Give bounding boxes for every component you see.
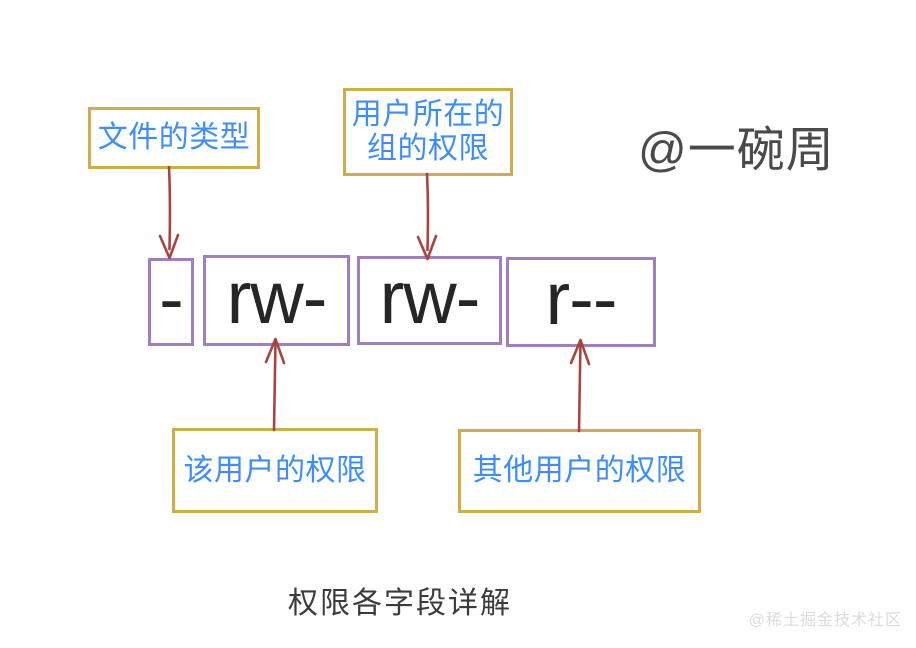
arrow-user-permission	[252, 336, 312, 432]
label-box-user-permission: 该用户的权限	[172, 428, 378, 513]
permission-segment-file-type: -	[148, 258, 194, 346]
label-line: 用户所在的	[352, 98, 505, 132]
arrow-group-permission	[400, 172, 460, 267]
figure-caption: 权限各字段详解	[0, 578, 800, 622]
diagram-canvas: 文件的类型 用户所在的 组的权限 该用户的权限 其他用户的权限 - rw- rw…	[0, 0, 916, 648]
arrow-file-type	[145, 165, 205, 265]
label-line: 其他用户的权限	[473, 454, 687, 488]
label-box-other-permission: 其他用户的权限	[458, 429, 701, 513]
permission-segment-group: rw-	[357, 256, 502, 345]
arrow-other-permission	[557, 337, 617, 433]
label-box-file-type: 文件的类型	[88, 107, 260, 169]
permission-segment-other: r--	[506, 257, 656, 347]
author-watermark: @一碗周	[638, 110, 835, 180]
label-line: 该用户的权限	[184, 454, 367, 488]
label-line: 组的权限	[367, 132, 489, 166]
label-line: 文件的类型	[98, 121, 251, 155]
label-box-group-permission: 用户所在的 组的权限	[343, 88, 513, 176]
site-watermark: @稀土掘金技术社区	[749, 606, 902, 630]
permission-segment-user: rw-	[203, 255, 350, 346]
